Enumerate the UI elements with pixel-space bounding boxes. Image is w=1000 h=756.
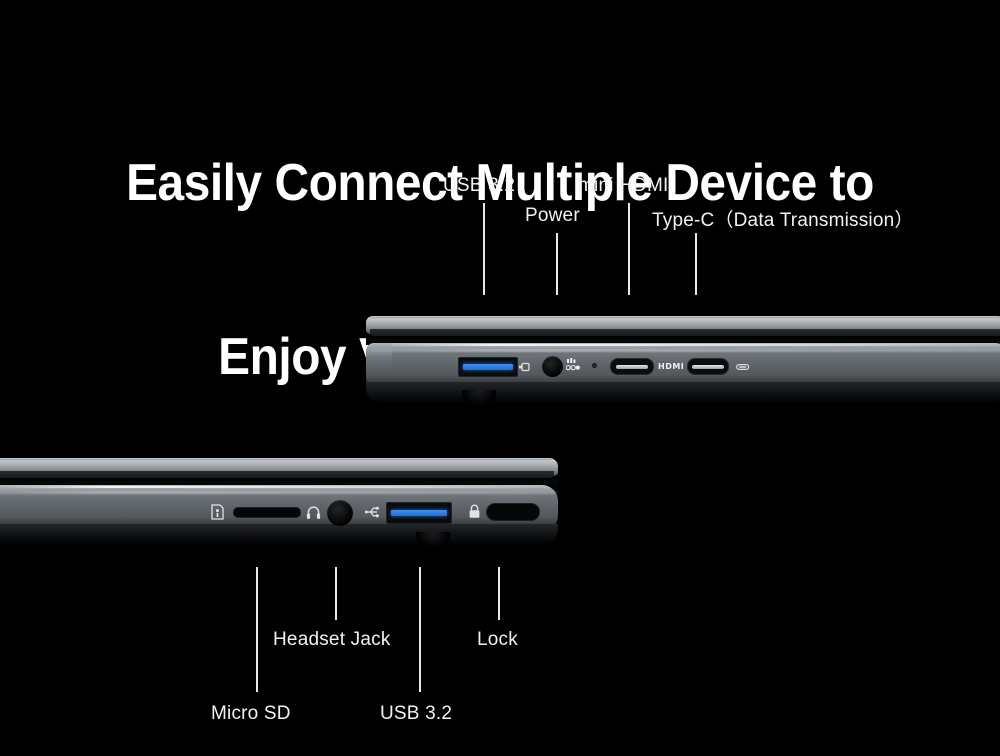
leader-line-power xyxy=(556,233,558,295)
usb-c-port xyxy=(687,358,729,375)
laptop-top-foot xyxy=(462,390,496,406)
usb-port xyxy=(386,502,452,524)
product-image-canvas: Easily Connect Multiple Device to Enjoy … xyxy=(0,0,1000,756)
leader-line-usb32-bottom xyxy=(419,567,421,692)
usb-port xyxy=(458,357,518,377)
callout-label-lock: Lock xyxy=(477,629,518,651)
memory-card-icon xyxy=(211,504,224,520)
callout-label-mini-hdmi: mini HDMI xyxy=(578,175,668,197)
usb-tongue xyxy=(463,364,513,370)
dc-power-jack xyxy=(542,356,563,377)
callout-label-type-c: Type-C（Data Transmission） xyxy=(652,205,914,232)
leader-line-micro-sd xyxy=(256,567,258,692)
usb-c-tongue xyxy=(692,365,723,369)
laptop-top-chamfer xyxy=(366,349,1000,352)
callout-label-micro-sd: Micro SD xyxy=(211,703,291,725)
callout-label-power: Power xyxy=(525,205,580,227)
usb-c-icon xyxy=(736,363,750,371)
usb-tongue xyxy=(391,510,446,516)
headphone-icon xyxy=(306,505,321,520)
page-title: Easily Connect Multiple Device to Enjoy … xyxy=(40,38,960,502)
laptop-bottom-chamfer xyxy=(0,491,558,494)
callout-label-headset-jack: Headset Jack xyxy=(273,629,391,651)
laptop-bottom-underside xyxy=(0,524,558,546)
micro-sd-slot xyxy=(233,507,301,518)
laptop-bottom-lid-edge xyxy=(0,471,554,478)
usb-trident-icon xyxy=(365,505,382,519)
status-led xyxy=(592,363,597,368)
hdmi-marking: HDMI xyxy=(658,362,684,371)
laptop-top-highlight xyxy=(385,344,1000,346)
leader-line-lock xyxy=(498,567,500,620)
leader-line-headset-jack xyxy=(335,567,337,620)
laptop-bottom-highlight xyxy=(5,486,558,488)
mini-hdmi-tongue xyxy=(616,365,649,369)
leader-line-usb32-top xyxy=(483,203,485,295)
mini-hdmi-port xyxy=(610,358,654,375)
padlock-icon xyxy=(468,504,481,519)
leader-line-mini-hdmi xyxy=(628,203,630,295)
laptop-top-device: HDMI xyxy=(366,316,1000,408)
leader-line-type-c xyxy=(695,233,697,295)
callout-label-usb32-bottom: USB 3.2 xyxy=(380,703,452,725)
kensington-lock-slot xyxy=(486,503,540,521)
laptop-bottom-foot xyxy=(416,532,450,548)
callout-label-usb32-top: USB 3.2 xyxy=(443,175,515,197)
headset-audio-jack xyxy=(327,500,353,526)
laptop-top-lid-edge xyxy=(370,329,1000,336)
dc-plug-icon xyxy=(518,360,532,374)
laptop-bottom-device xyxy=(0,458,558,566)
indicator-leds-icon xyxy=(566,358,586,375)
